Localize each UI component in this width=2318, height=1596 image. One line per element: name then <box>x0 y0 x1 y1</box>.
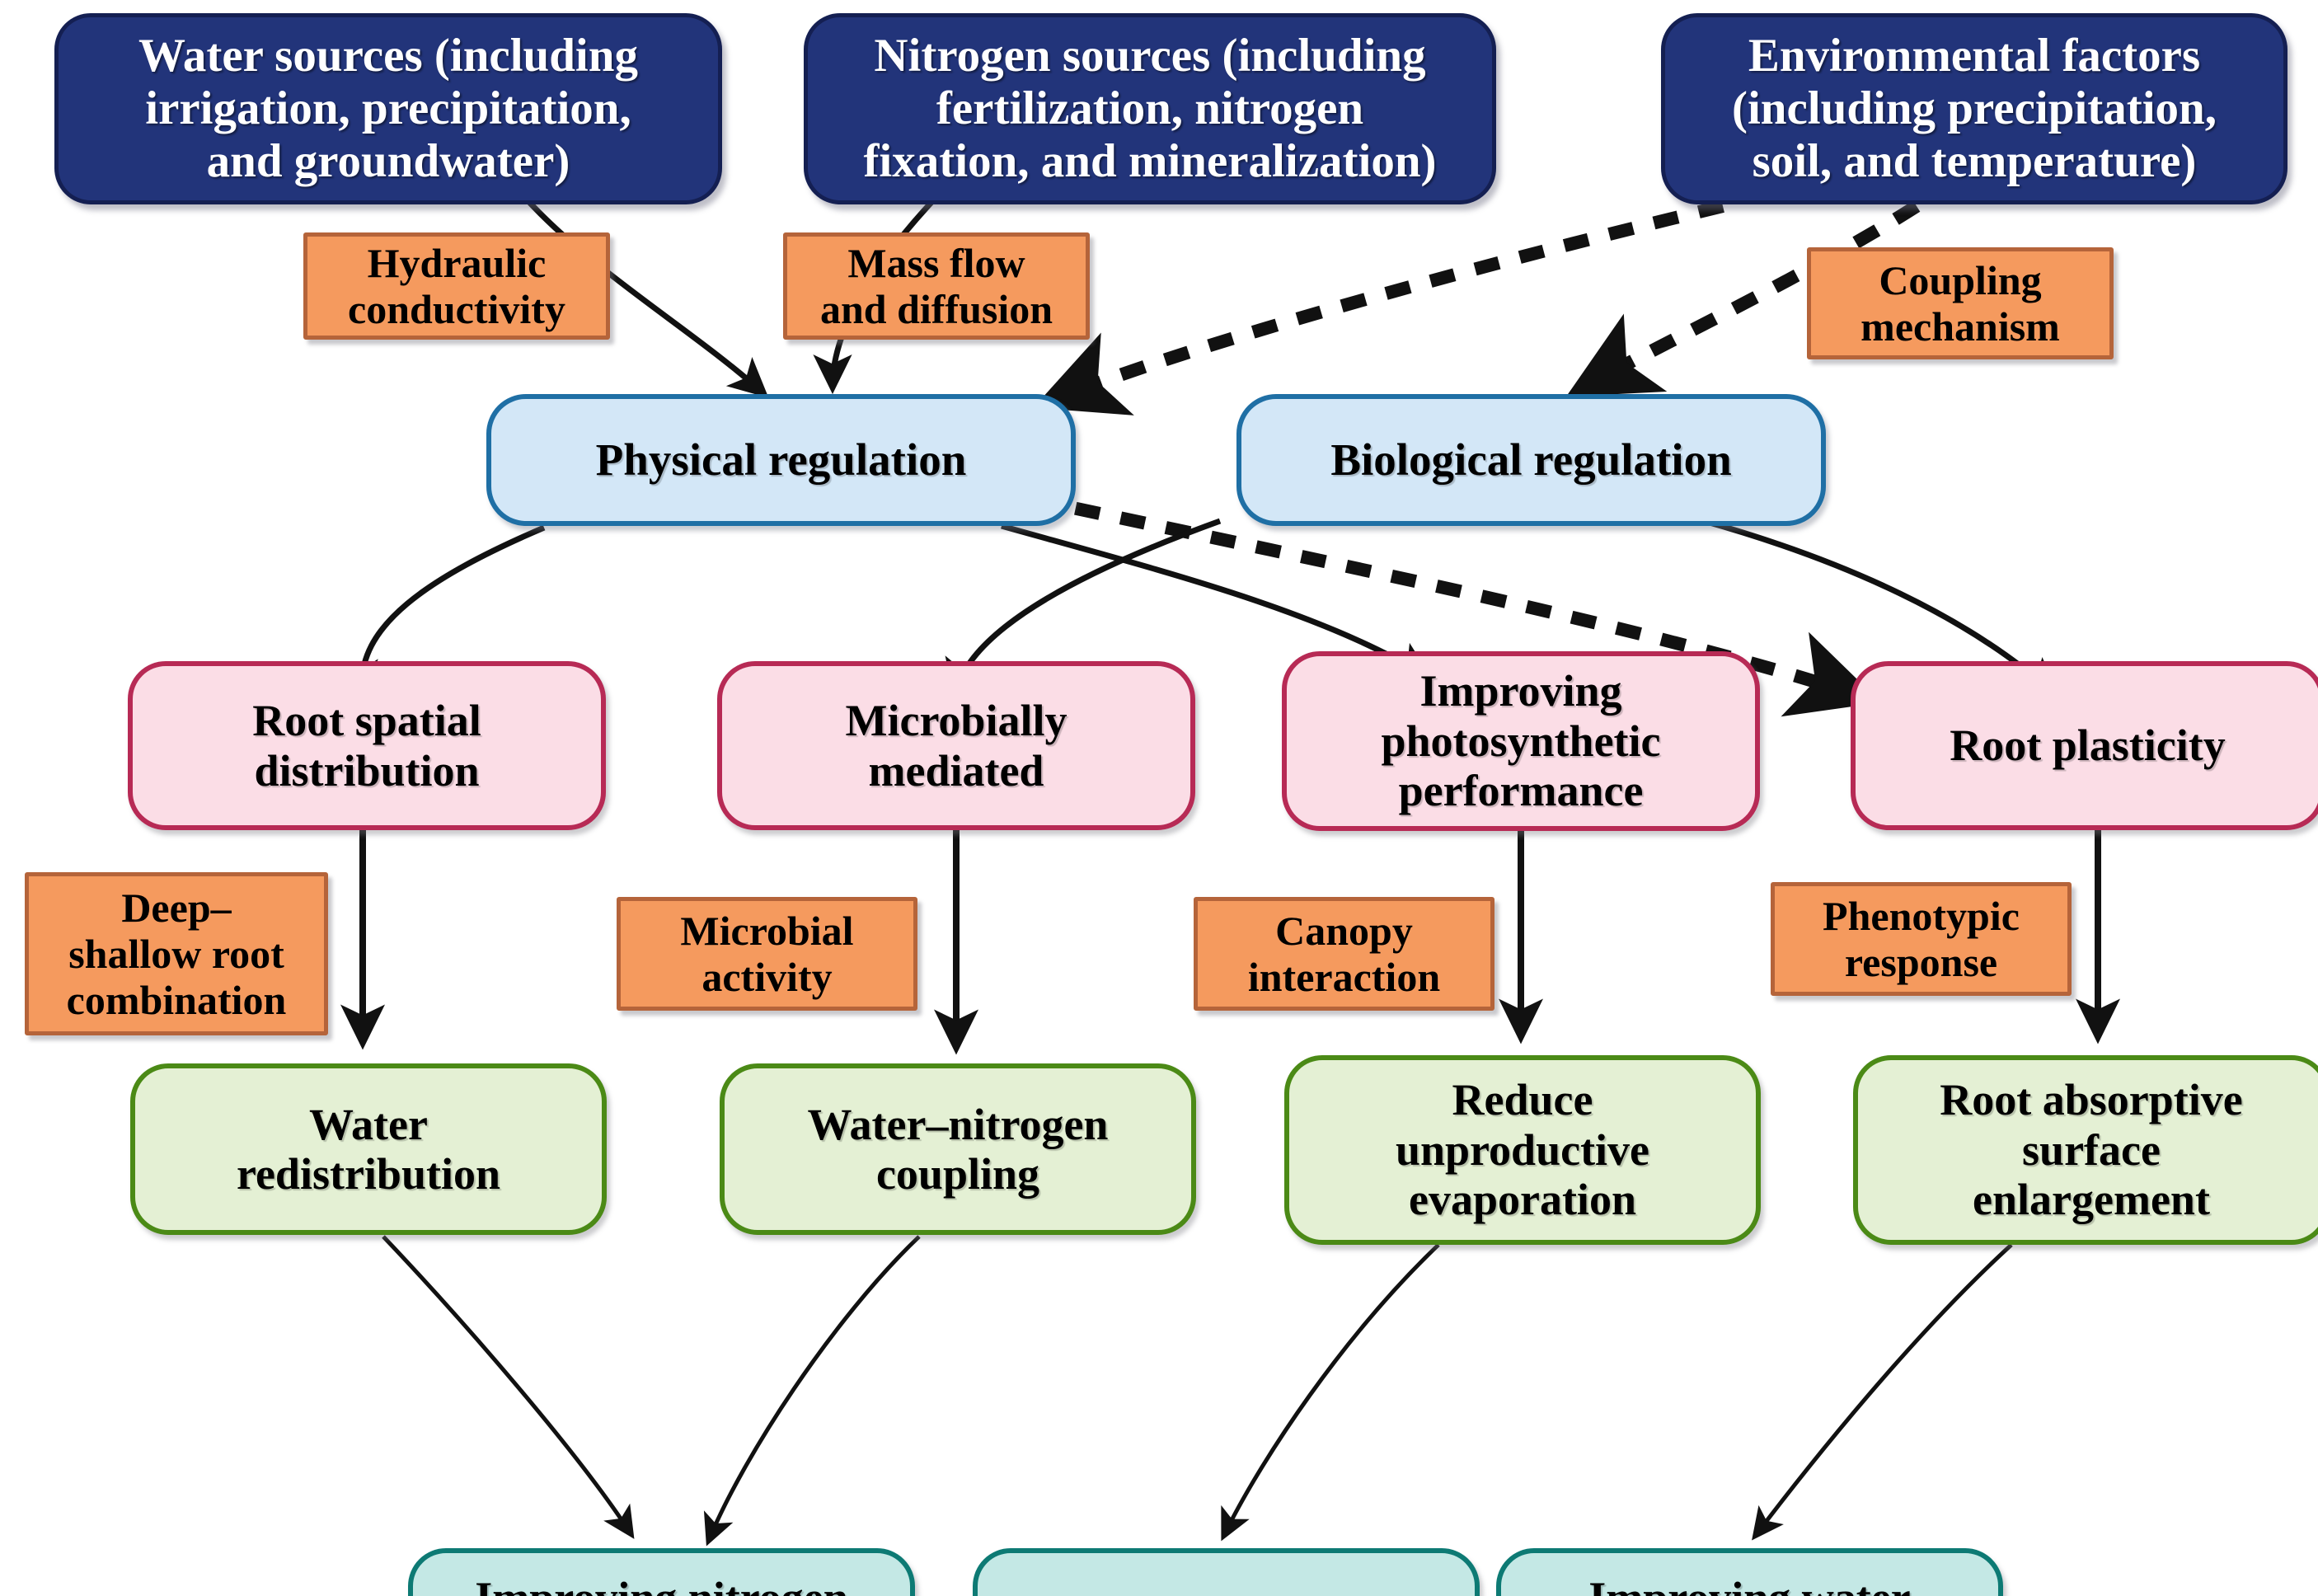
node-hydraulic-conductivity[interactable]: Hydraulic conductivity <box>303 232 610 340</box>
node-physical-regulation[interactable]: Physical regulation <box>486 394 1076 526</box>
node-phenotypic-response[interactable]: Phenotypic response <box>1771 882 2072 996</box>
node-reduce-unproductive-evaporation[interactable]: Reduce unproductive evaporation <box>1284 1055 1761 1245</box>
node-improving-nitrogen-use-efficiency[interactable]: Improving nitrogen use efficiency <box>408 1548 915 1596</box>
node-root-absorptive-surface-enlargement[interactable]: Root absorptive surface enlargement <box>1853 1055 2318 1245</box>
node-root-spatial-distribution[interactable]: Root spatial distribution <box>128 661 606 830</box>
edge-water-redistribution-to-improving-nitrogen-use-efficiency <box>383 1237 631 1533</box>
node-root-plasticity[interactable]: Root plasticity <box>1851 661 2318 830</box>
node-water-sources[interactable]: Water sources (including irrigation, pre… <box>54 13 722 204</box>
node-deep-shallow-root-combination[interactable]: Deep– shallow root combination <box>25 872 328 1035</box>
edge-water-nitrogen-coupling-to-improving-nitrogen-use-efficiency <box>709 1237 919 1540</box>
node-improving-photosynthetic-performance[interactable]: Improving photosynthetic performance <box>1282 651 1760 831</box>
node-coupling-mechanism[interactable]: Coupling mechanism <box>1807 247 2114 359</box>
node-water-nitrogen-coupling[interactable]: Water–nitrogen coupling <box>720 1063 1196 1235</box>
node-mass-flow-and-diffusion[interactable]: Mass flow and diffusion <box>783 232 1090 340</box>
edge-environmental-factors-to-physical-regulation <box>1051 206 1723 401</box>
edge-root-absorptive-surface-enlargement-to-improving-water-use-efficiency <box>1756 1245 2011 1535</box>
node-nitrogen-sources[interactable]: Nitrogen sources (including fertilizatio… <box>804 13 1496 204</box>
node-biological-regulation[interactable]: Biological regulation <box>1236 394 1826 526</box>
node-improving-water-use-efficiency[interactable]: Improving water use efficiency <box>1496 1548 2003 1596</box>
edge-reduce-unproductive-evaporation-to-reduce-leaching <box>1224 1245 1438 1535</box>
diagram-canvas: Water sources (including irrigation, pre… <box>0 0 2318 1596</box>
node-water-redistribution[interactable]: Water redistribution <box>130 1063 607 1235</box>
node-environmental-factors[interactable]: Environmental factors (including precipi… <box>1661 13 2287 204</box>
node-microbial-activity[interactable]: Microbial activity <box>617 897 917 1011</box>
node-microbially-mediated[interactable]: Microbially mediated <box>717 661 1195 830</box>
node-reduce-leaching[interactable]: Reduce leaching <box>973 1548 1480 1596</box>
node-canopy-interaction[interactable]: Canopy interaction <box>1194 897 1494 1011</box>
